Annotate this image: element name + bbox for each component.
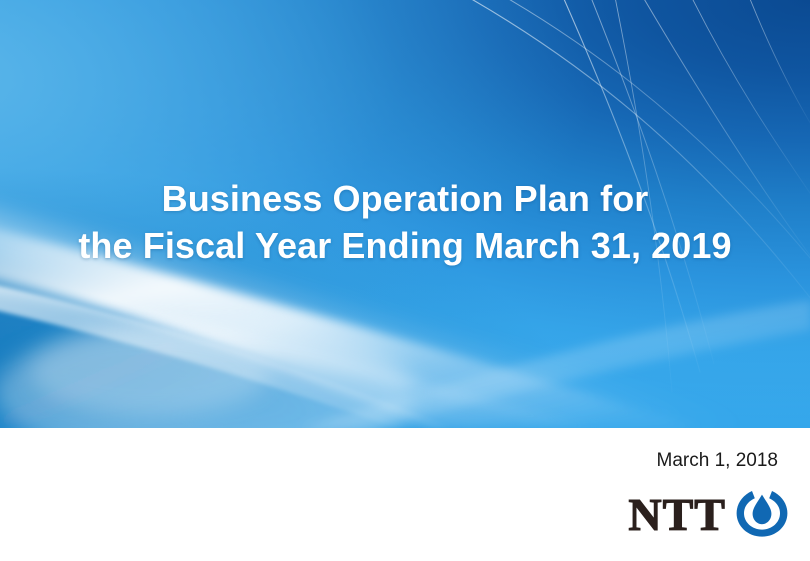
ntt-logo: NTT	[628, 486, 788, 543]
presentation-date: March 1, 2018	[657, 450, 778, 472]
hero-banner: Business Operation Plan for the Fiscal Y…	[0, 0, 810, 428]
slide-footer: March 1, 2018 NTT	[0, 428, 810, 561]
title-line-1: Business Operation Plan for	[0, 175, 810, 222]
title-slide: Business Operation Plan for the Fiscal Y…	[0, 0, 810, 561]
title-line-2: the Fiscal Year Ending March 31, 2019	[0, 222, 810, 269]
ntt-wordmark: NTT	[628, 492, 726, 538]
ntt-circle-mark-icon	[736, 486, 788, 543]
slide-title: Business Operation Plan for the Fiscal Y…	[0, 175, 810, 269]
